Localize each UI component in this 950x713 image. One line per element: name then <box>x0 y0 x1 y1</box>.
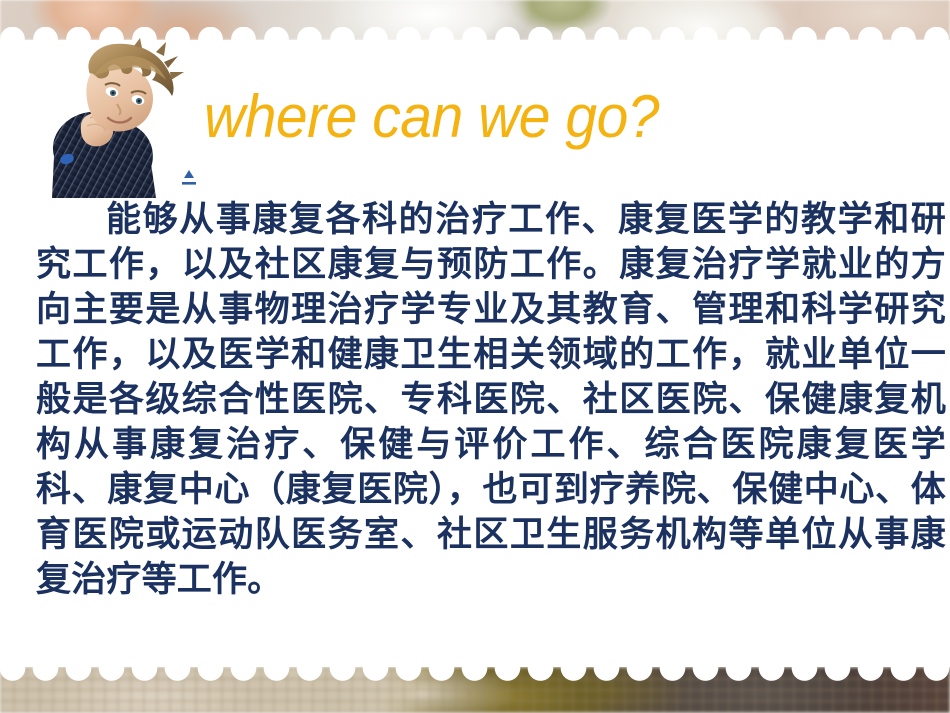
slide-canvas: where can we go? 能够从事康复各科的治疗工作、康复医学的教学和研… <box>0 0 950 713</box>
body-text-block: 能够从事康复各科的治疗工作、康复医学的教学和研究工作，以及社区康复与预防工作。康… <box>36 198 946 603</box>
page-title: where can we go? <box>204 82 659 152</box>
person-photo <box>38 38 198 198</box>
body-paragraph: 能够从事康复各科的治疗工作、康复医学的教学和研究工作，以及社区康复与预防工作。康… <box>36 198 946 603</box>
bottom-band-scallop-edge <box>0 667 950 681</box>
bottom-decorative-band <box>0 667 950 713</box>
top-decorative-band <box>0 0 950 40</box>
